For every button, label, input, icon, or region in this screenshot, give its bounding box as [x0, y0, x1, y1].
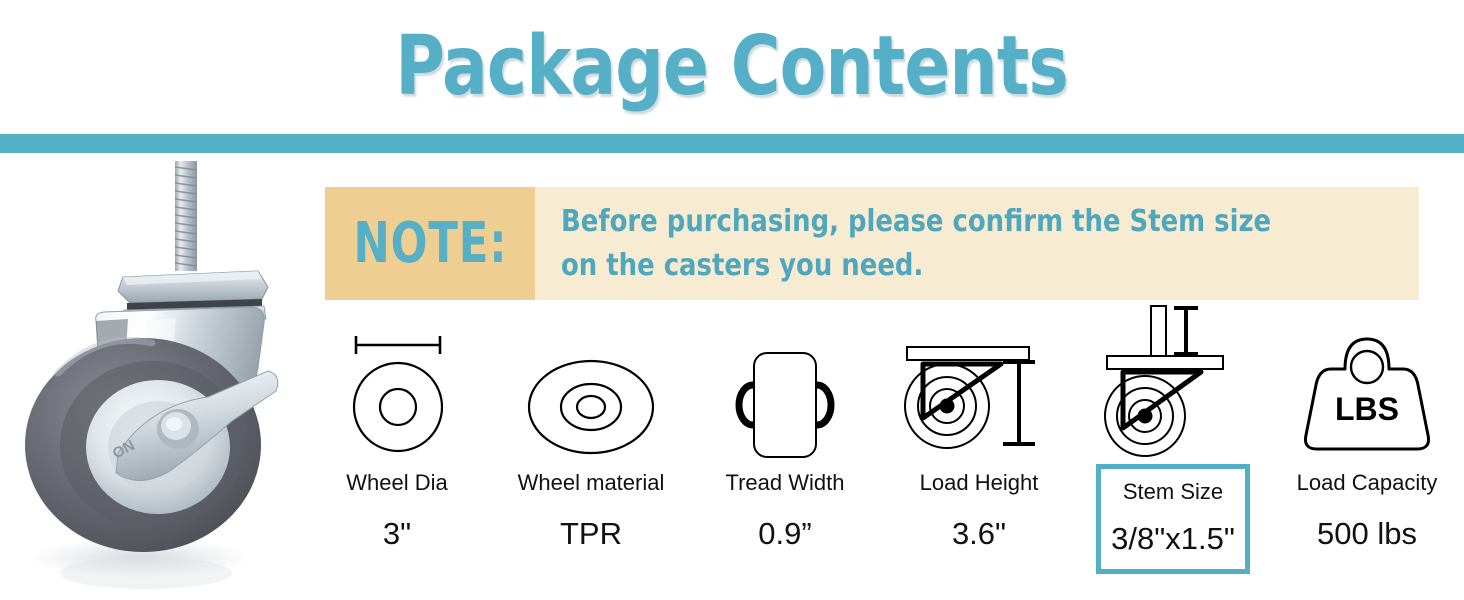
note-tag-label: NOTE:	[353, 211, 507, 276]
product-photo: ON	[0, 153, 310, 600]
spec-value: TPR	[560, 514, 622, 554]
wheel-material-icon	[496, 300, 686, 460]
spec-item-wheel-dia: Wheel Dia 3"	[300, 300, 494, 590]
spec-value: 3.6"	[952, 514, 1006, 554]
lbs-label: LBS	[1335, 391, 1399, 427]
tread-width-icon	[690, 300, 880, 460]
stem-size-highlight-box: Stem Size 3/8"x1.5"	[1096, 464, 1250, 574]
note-line-1: Before purchasing, please confirm the St…	[561, 200, 1385, 244]
teal-divider-rule	[0, 134, 1464, 153]
spec-value: 3"	[383, 514, 411, 554]
page-title: Package Contents	[396, 26, 1069, 108]
note-tag: NOTE:	[325, 187, 535, 300]
spec-item-tread-width: Tread Width 0.9”	[688, 300, 882, 590]
spec-item-load-height: Load Height 3.6"	[882, 300, 1076, 590]
wheel-diameter-icon	[302, 300, 492, 460]
spec-label: Load Capacity	[1297, 468, 1438, 498]
caster-product-illustration: ON	[0, 153, 310, 600]
spec-label: Wheel Dia	[346, 468, 447, 498]
note-box: NOTE: Before purchasing, please confirm …	[325, 187, 1419, 300]
spec-row: Wheel Dia 3" Wheel material TPR	[300, 300, 1464, 590]
title-band: Package Contents	[0, 0, 1464, 134]
spec-label: Wheel material	[518, 468, 665, 498]
spec-item-load-capacity: LBS Load Capacity 500 lbs	[1270, 300, 1464, 590]
spec-item-stem-size[interactable]: Stem Size 3/8"x1.5"	[1076, 300, 1270, 590]
spec-value: 0.9”	[758, 514, 811, 554]
note-body: Before purchasing, please confirm the St…	[535, 187, 1419, 300]
note-line-2: on the casters you need.	[561, 244, 1385, 288]
load-height-icon	[884, 300, 1074, 460]
spec-label: Load Height	[920, 468, 1039, 498]
spec-value: 3/8"x1.5"	[1111, 519, 1235, 559]
stem-size-icon	[1078, 300, 1268, 460]
spec-value: 500 lbs	[1317, 514, 1417, 554]
spec-label: Stem Size	[1123, 477, 1223, 507]
load-capacity-icon: LBS	[1272, 300, 1462, 460]
spec-label: Tread Width	[725, 468, 844, 498]
spec-item-wheel-material: Wheel material TPR	[494, 300, 688, 590]
infographic-page: Package Contents	[0, 0, 1464, 600]
